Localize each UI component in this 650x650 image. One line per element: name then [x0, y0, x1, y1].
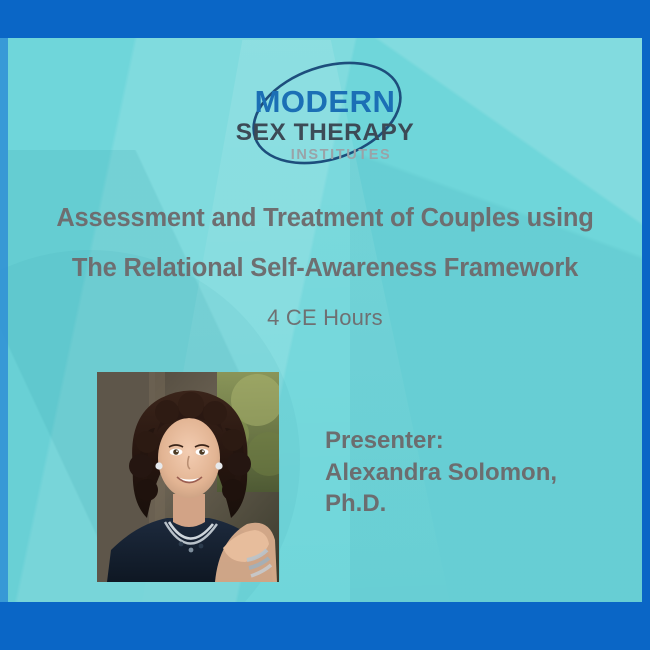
course-title-line-1: Assessment and Treatment of Couples usin… — [0, 206, 650, 232]
logo-line-modern: MODERN — [255, 84, 396, 119]
presenter-label: Presenter: — [325, 425, 625, 457]
modern-sex-therapy-institutes-logo: MODERN SEX THERAPY INSTITUTES — [215, 54, 435, 172]
presenter-photo — [97, 372, 279, 582]
top-blue-band — [0, 0, 650, 38]
course-promo-poster: MODERN SEX THERAPY INSTITUTES Assessment… — [0, 0, 650, 650]
ce-hours-label: 4 CE Hours — [0, 305, 650, 331]
course-title-line-2: The Relational Self-Awareness Framework — [0, 256, 650, 282]
logo-line-institutes: INSTITUTES — [291, 147, 392, 163]
title-block: Assessment and Treatment of Couples usin… — [0, 206, 650, 331]
bottom-blue-band — [0, 602, 650, 650]
logo-line-sex-therapy: SEX THERAPY — [236, 119, 414, 146]
presenter-name-line-2: Ph.D. — [325, 488, 625, 520]
presenter-name-line-1: Alexandra Solomon, — [325, 457, 625, 489]
presenter-block: Presenter: Alexandra Solomon, Ph.D. — [325, 425, 625, 520]
